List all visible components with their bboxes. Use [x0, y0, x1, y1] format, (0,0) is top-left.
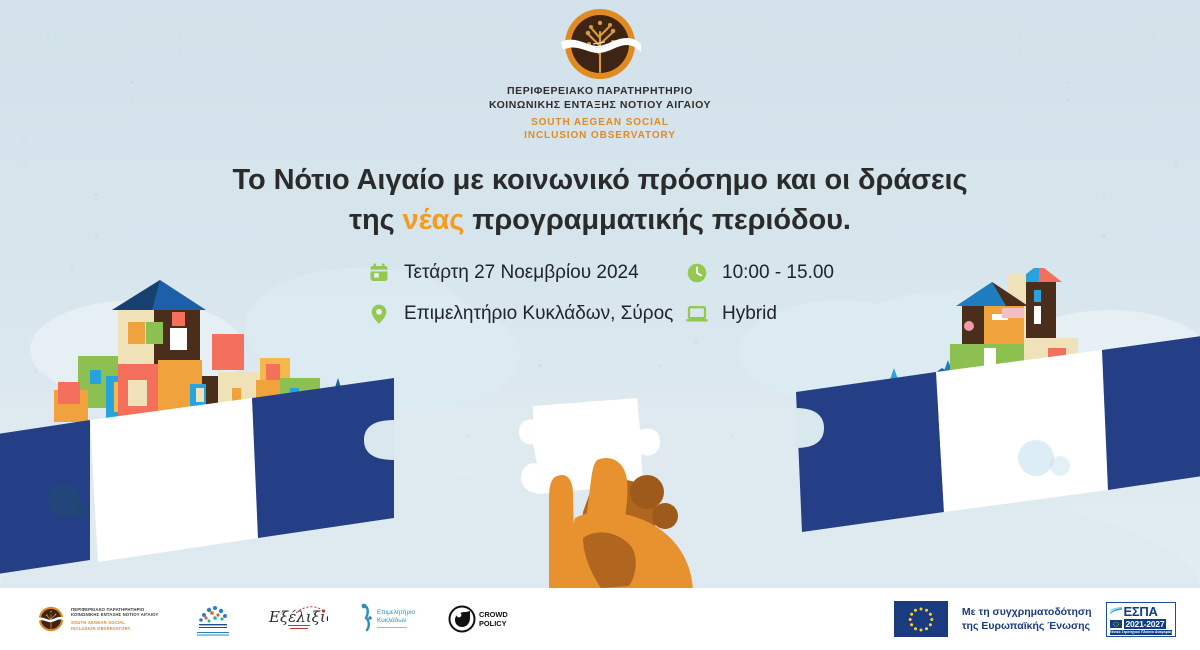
hand-holding-puzzle-piece [497, 388, 717, 593]
eu-funding-line2: της Ευρωπαϊκής Ένωσης [962, 619, 1092, 633]
chamber-label-line2: Κυκλάδων [377, 616, 407, 624]
event-mode: Hybrid [710, 303, 834, 325]
title-accent-word: νέας [403, 204, 465, 236]
eu-funding-line1: Με τη συγχρηματοδότηση [962, 605, 1092, 619]
brand-english-line1: SOUTH AEGEAN SOCIAL [0, 116, 1200, 129]
title-line-1: Το Νότιο Αιγαίο με κοινωνικό πρόσημο και… [0, 160, 1200, 200]
poster-title: Το Νότιο Αιγαίο με κοινωνικό πρόσημο και… [0, 160, 1200, 240]
brand-greek-line2: ΚΟΙΝΩΝΙΚΗΣ ΕΝΤΑΞΗΣ ΝΟΤΙΟΥ ΑΙΓΑΙΟΥ [0, 99, 1200, 113]
espa-eu-flag-icon [1110, 620, 1122, 628]
title-line2-before: της [349, 204, 402, 236]
eu-funding-text: Με τη συγχρηματοδότηση της Ευρωπαϊκής Έν… [962, 605, 1092, 633]
handshake-tree-circle-icon [36, 606, 66, 632]
crowd-policy-label-line1: CROWD [479, 610, 508, 619]
event-date: Τετάρτη 27 Νοεμβρίου 2024 [392, 262, 684, 284]
crowd-policy-icon: CROWD POLICY [448, 604, 510, 634]
title-line-2: της νέας προγραμματικής περιόδου. [0, 200, 1200, 240]
laptop-icon [684, 303, 710, 325]
espa-tagline: Εθνικό Στρατηγικό Πλαίσιο Αναφοράς [1110, 630, 1173, 635]
chamber-label-line1: Επιμελητήριο [377, 609, 416, 616]
exelixis-script-icon: Εξέλιξις [266, 602, 328, 636]
brand-greek-line1: ΠΕΡΙΦΕΡΕΙΑΚΟ ΠΑΡΑΤΗΡΗΤΗΡΙΟ [0, 85, 1200, 99]
espa-years: 2021-2027 [1124, 619, 1167, 629]
event-time: 10:00 - 15.00 [710, 262, 834, 284]
brand-header: ΠΕΡΙΦΕΡΕΙΑΚΟ ΠΑΡΑΤΗΡΗΤΗΡΙΟ ΚΟΙΝΩΝΙΚΗΣ ΕΝ… [0, 8, 1200, 142]
event-poster: ΠΕΡΙΦΕΡΕΙΑΚΟ ΠΑΡΑΤΗΡΗΤΗΡΙΟ ΚΟΙΝΩΝΙΚΗΣ ΕΝ… [0, 0, 1200, 650]
footer-bar: ΠΕΡΙΦΕΡΕΙΑΚΟ ΠΑΡΑΤΗΡΗΤΗΡΙΟ ΚΟΙΝΩΝΙΚΗΣ ΕΝ… [0, 588, 1200, 650]
espa-swoosh-icon [1110, 607, 1122, 615]
crowd-policy-label-line2: POLICY [479, 619, 507, 628]
footer-partner-logos: ΠΕΡΙΦΕΡΕΙΑΚΟ ΠΑΡΑΤΗΡΗΤΗΡΙΟ ΚΟΙΝΩΝΙΚΗΣ ΕΝ… [0, 599, 510, 639]
chamber-figure-icon: Επιμελητήριο Κυκλάδων [358, 602, 418, 636]
south-aegean-social-inclusion-observatory-logo: ΠΕΡΙΦΕΡΕΙΑΚΟ ΠΑΡΑΤΗΡΗΤΗΡΙΟ ΚΟΙΝΩΝΙΚΗΣ ΕΝ… [36, 606, 158, 632]
event-details: Τετάρτη 27 Νοεμβρίου 2024 10:00 - 15.00 … [0, 262, 1200, 325]
event-location: Επιμελητήριο Κυκλάδων, Σύρος [392, 303, 684, 325]
eu-flag-icon [894, 601, 948, 637]
region-of-south-aegean-logo [188, 599, 236, 639]
brand-english-line2: INCLUSION OBSERVATORY [0, 129, 1200, 142]
map-pin-icon [366, 303, 392, 325]
title-line2-after: προγραμματικής περιόδου. [464, 204, 851, 236]
clock-icon [684, 262, 710, 284]
calendar-icon [366, 262, 392, 284]
footer-observatory-en2: INCLUSION OBSERVATORY [71, 626, 158, 632]
footer-observatory-gr2: ΚΟΙΝΩΝΙΚΗΣ ΕΝΤΑΞΗΣ ΝΟΤΙΟΥ ΑΙΓΑΙΟΥ [71, 612, 158, 618]
crowd-policy-logo: CROWD POLICY [448, 604, 510, 634]
footer-eu-funding: Με τη συγχρηματοδότηση της Ευρωπαϊκής Έν… [894, 601, 1200, 637]
handshake-tree-circle-logo [557, 8, 643, 80]
chamber-of-cyclades-logo: Επιμελητήριο Κυκλάδων [358, 602, 418, 636]
espa-wordmark: ΕΣΠΑ [1124, 605, 1158, 618]
region-crest-icon [188, 599, 236, 639]
exelixis-wordmark: Εξέλιξις [268, 608, 328, 626]
exelixis-logo: Εξέλιξις [266, 602, 328, 636]
espa-logo: ΕΣΠΑ 2021-2027 Εθνικό Στρατηγικό Π [1106, 602, 1177, 637]
